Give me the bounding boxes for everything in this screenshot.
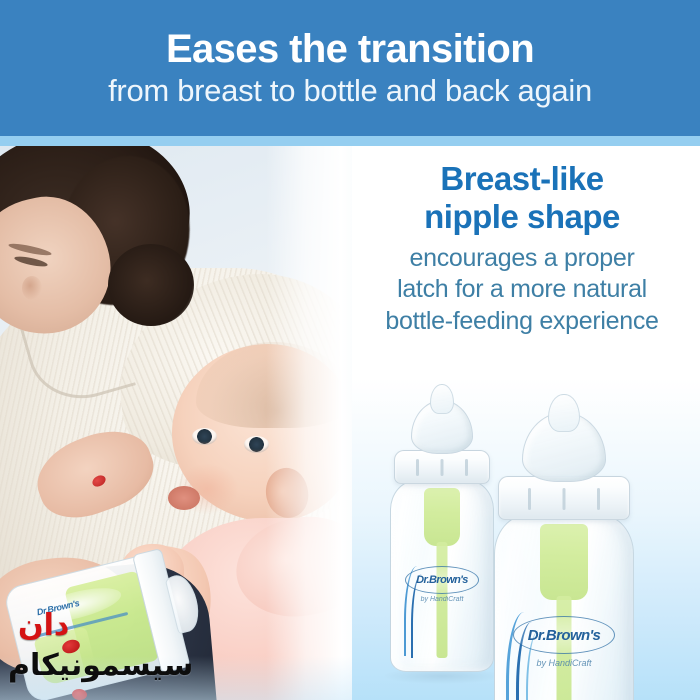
header-banner: Eases the transition from breast to bott…: [0, 0, 700, 136]
baby-mouth: [168, 486, 200, 510]
feature-text-panel: Breast-like nipple shape encourages a pr…: [352, 160, 692, 337]
feature-body-line2: latch for a more natural: [352, 274, 692, 306]
bottle-collar-notch: [441, 459, 444, 476]
bottle-brand-text: Dr.Brown's: [528, 627, 601, 644]
bottle-internal-vent: [540, 524, 588, 600]
mother-feeding-baby-photo: Dr.Brown's: [0, 146, 352, 700]
feature-heading-line1: Breast-like: [352, 160, 692, 198]
content-stage: Dr.Brown's Dr.Brown's by HandiCraft: [0, 146, 700, 700]
header-accent-stripe: [0, 136, 700, 146]
bottle-brand-text: Dr.Brown's: [416, 574, 468, 586]
bottle-tagline: by HandiCraft: [536, 658, 591, 668]
baby-eye-left: [192, 428, 217, 445]
bottle-collar-notch: [563, 488, 566, 510]
bottle-tagline: by HandiCraft: [421, 596, 464, 603]
feature-heading-line2: nipple shape: [352, 198, 692, 236]
feature-body-line1: encourages a proper: [352, 243, 692, 275]
header-title: Eases the transition: [166, 28, 534, 70]
photo-bottom-fade: [0, 656, 352, 700]
mother-hair-curl: [108, 244, 194, 326]
photo-right-fade: [266, 146, 352, 700]
mother-nose: [22, 276, 42, 300]
product-bottle-large[interactable]: Dr.Brown's by HandiCraft: [464, 396, 664, 700]
header-subtitle: from breast to bottle and back again: [108, 74, 592, 108]
feature-body-line3: bottle-feeding experience: [352, 306, 692, 338]
bottle-collar-ring: [498, 476, 630, 520]
bottle-nipple-tip: [430, 384, 454, 414]
bottle-internal-vent: [424, 488, 460, 546]
bottle-nipple-tip: [548, 394, 580, 432]
bottle-brand-logo: Dr.Brown's: [513, 616, 615, 654]
